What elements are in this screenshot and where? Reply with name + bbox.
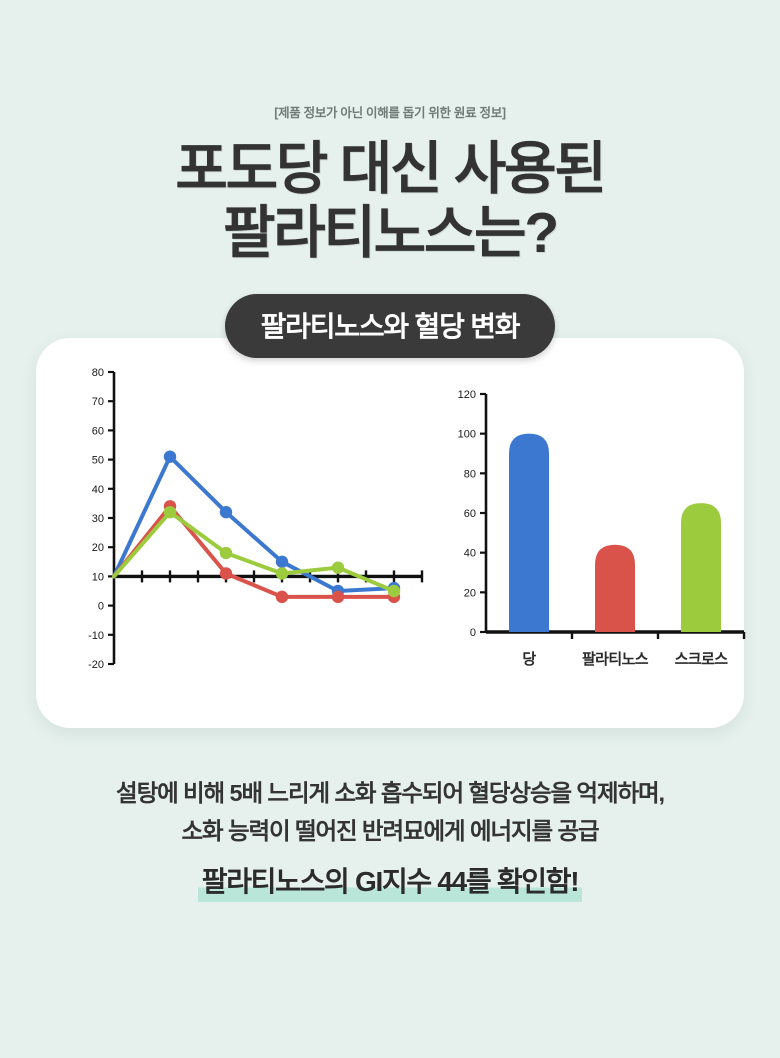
y-tick-label: 30 [92, 513, 104, 525]
data-point-red [220, 567, 232, 579]
section-badge: 팔라티노스와 혈당 변화 [225, 294, 556, 358]
y-tick-label: 10 [92, 571, 104, 583]
gi-index-bar-chart: 020406080100120당팔라티노스스크로스 [432, 364, 752, 714]
y-tick-label: 60 [464, 508, 476, 520]
y-tick-label: 80 [92, 367, 104, 379]
footer-copy: 설탕에 비해 5배 느리게 소화 흡수되어 혈당상승을 억제하며, 소화 능력이… [0, 774, 780, 902]
y-tick-label: 20 [92, 542, 104, 554]
infographic-page: [제품 정보가 아닌 이해를 돕기 위한 원료 정보] 포도당 대신 사용된 팔… [0, 0, 780, 1058]
headline-line-1: 포도당 대신 사용된 [175, 137, 604, 201]
y-tick-label: 20 [464, 587, 476, 599]
headline-line-2: 팔라티노스는? [175, 201, 604, 265]
y-tick-label: 0 [98, 600, 104, 612]
page-title: 포도당 대신 사용된 팔라티노스는? [175, 137, 604, 266]
y-tick-label: -20 [88, 659, 104, 671]
bar-category-label: 당 [522, 650, 536, 668]
y-tick-label: 0 [470, 627, 476, 639]
y-tick-label: 60 [92, 425, 104, 437]
y-tick-label: 50 [92, 454, 104, 466]
bar-0 [509, 433, 549, 631]
data-point-blue [276, 555, 288, 567]
bar-chart-svg: 020406080100120당팔라티노스스크로스 [432, 364, 752, 714]
bar-2 [681, 503, 721, 632]
y-tick-label: 120 [458, 389, 476, 401]
line-series-red [114, 506, 394, 597]
bar-category-label: 팔라티노스 [582, 650, 649, 668]
y-tick-label: 100 [458, 428, 476, 440]
line-chart-svg: -20-1001020304050607080 [68, 364, 428, 714]
y-tick-label: 40 [92, 484, 104, 496]
data-point-green [332, 561, 344, 573]
data-point-blue [164, 450, 176, 462]
section-badge-wrap: 팔라티노스와 혈당 변화 [225, 294, 556, 358]
charts-card: -20-1001020304050607080 020406080100120당… [36, 338, 744, 728]
data-point-green [220, 547, 232, 559]
y-tick-label: 70 [92, 396, 104, 408]
footer-highlight-wrap: 팔라티노스의 GI지수 44를 확인함! [0, 860, 780, 902]
data-point-blue [220, 506, 232, 518]
bar-category-label: 스크로스 [675, 651, 729, 668]
y-tick-label: 80 [464, 468, 476, 480]
data-point-red [332, 590, 344, 602]
blood-glucose-line-chart: -20-1001020304050607080 [68, 364, 428, 714]
bar-1 [595, 545, 635, 632]
data-point-red [276, 590, 288, 602]
footer-highlight: 팔라티노스의 GI지수 44를 확인함! [198, 860, 583, 902]
y-tick-label: -10 [88, 630, 104, 642]
data-point-green [276, 567, 288, 579]
source-caption: [제품 정보가 아닌 이해를 돕기 위한 원료 정보] [274, 102, 506, 121]
y-tick-label: 40 [464, 547, 476, 559]
data-point-green [388, 585, 400, 597]
data-point-green [164, 506, 176, 518]
footer-line-2: 소화 능력이 떨어진 반려묘에게 에너지를 공급 [0, 812, 780, 850]
footer-line-1: 설탕에 비해 5배 느리게 소화 흡수되어 혈당상승을 억제하며, [0, 774, 780, 812]
